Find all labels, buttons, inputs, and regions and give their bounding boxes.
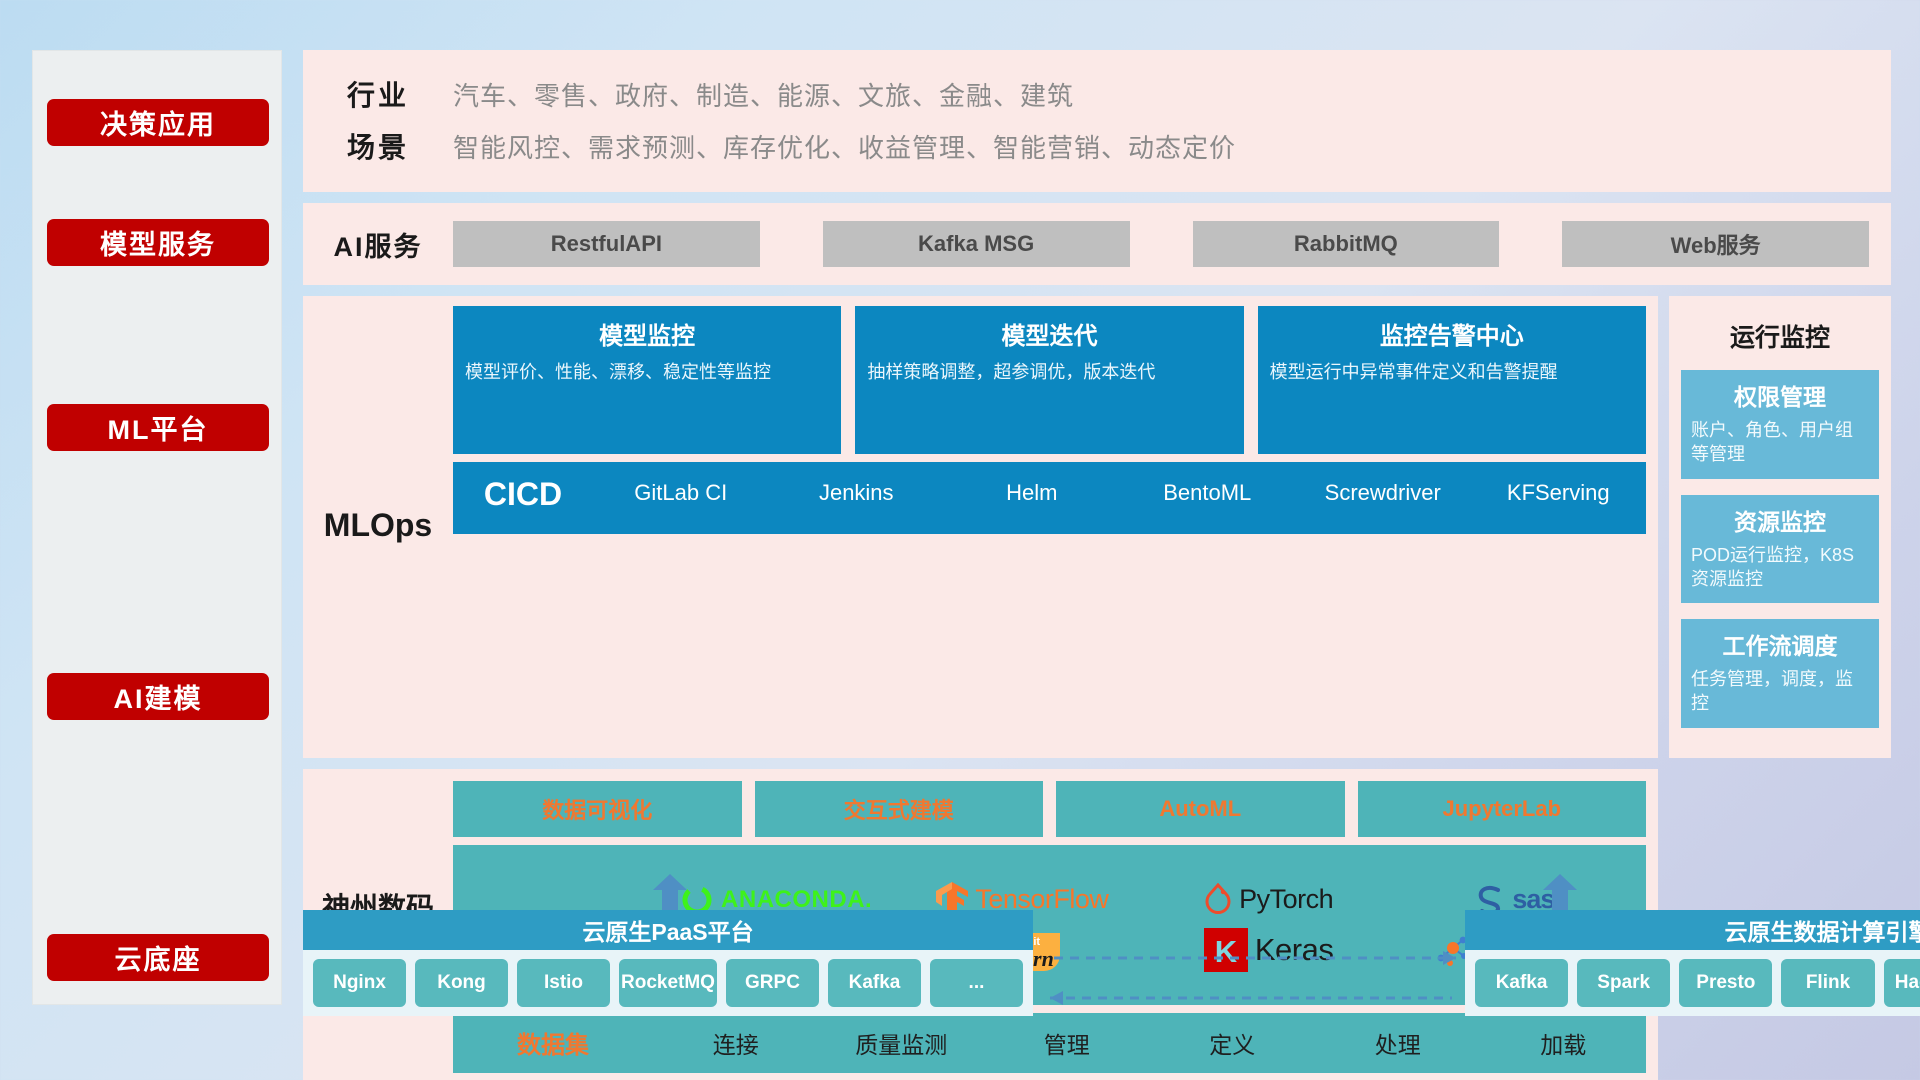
card-desc: 任务管理，调度，监控 bbox=[1691, 667, 1869, 716]
cicd-item-bentoml[interactable]: BentoML bbox=[1120, 476, 1296, 507]
row-scenario: 场景 智能风控、需求预测、库存优化、收益管理、智能营销、动态定价 bbox=[303, 120, 1891, 172]
mlops-card-model-monitoring[interactable]: 模型监控 模型评价、性能、漂移、稳定性等监控 bbox=[453, 306, 841, 454]
card-desc: 抽样策略调整，超参调优，版本迭代 bbox=[867, 360, 1231, 384]
section-decision-apps: 行业 汽车、零售、政府、制造、能源、文旅、金融、建筑 场景 智能风控、需求预测、… bbox=[303, 50, 1891, 192]
row-industry: 行业 汽车、零售、政府、制造、能源、文旅、金融、建筑 bbox=[303, 68, 1891, 120]
cicd-item-screwdriver[interactable]: Screwdriver bbox=[1295, 476, 1471, 507]
paas-chip-nginx[interactable]: Nginx bbox=[313, 959, 406, 1007]
cloud-engine-group: 云原生数据计算引擎 Kafka Spark Presto Flink Hadoo… bbox=[1465, 910, 1920, 1016]
card-title: 模型迭代 bbox=[867, 316, 1231, 351]
up-arrow-engine-icon bbox=[1543, 874, 1577, 914]
paas-chip-kong[interactable]: Kong bbox=[415, 959, 508, 1007]
rail-item-ml-platform[interactable]: ML平台 bbox=[47, 404, 269, 451]
cloud-paas-group: 云原生PaaS平台 Nginx Kong Istio RocketMQ GRPC… bbox=[303, 910, 1033, 1016]
cicd-item-gitlab-ci[interactable]: GitLab CI bbox=[593, 476, 769, 507]
paas-chip-grpc[interactable]: GRPC bbox=[726, 959, 819, 1007]
service-chip-kafka-msg[interactable]: Kafka MSG bbox=[823, 221, 1130, 267]
rail-item-model-service[interactable]: 模型服务 bbox=[47, 219, 269, 266]
scenario-value: 智能风控、需求预测、库存优化、收益管理、智能营销、动态定价 bbox=[453, 128, 1236, 165]
rail-item-decision-apps[interactable]: 决策应用 bbox=[47, 99, 269, 146]
cicd-item-helm[interactable]: Helm bbox=[944, 476, 1120, 507]
mlops-card-alert-center[interactable]: 监控告警中心 模型运行中异常事件定义和告警提醒 bbox=[1258, 306, 1646, 454]
paas-chip-rocketmq[interactable]: RocketMQ bbox=[619, 959, 717, 1007]
card-desc: 模型评价、性能、漂移、稳定性等监控 bbox=[465, 360, 829, 384]
paas-chip-istio[interactable]: Istio bbox=[517, 959, 610, 1007]
rail-item-label: 决策应用 bbox=[100, 103, 216, 142]
rail-item-label: ML平台 bbox=[108, 408, 209, 447]
mlops-key: MLOps bbox=[303, 306, 453, 746]
runtime-monitor-title: 运行监控 bbox=[1681, 318, 1879, 354]
industry-key: 行业 bbox=[303, 74, 453, 114]
section-mlops: MLOps 模型监控 模型评价、性能、漂移、稳定性等监控 模型迭代 抽样策略调整… bbox=[303, 296, 1658, 758]
card-title: 工作流调度 bbox=[1691, 627, 1869, 661]
engine-chip-presto[interactable]: Presto bbox=[1679, 959, 1772, 1007]
tool-data-visualization[interactable]: 数据可视化 bbox=[453, 781, 742, 837]
rail-item-label: 模型服务 bbox=[100, 223, 216, 262]
service-chip-web[interactable]: Web服务 bbox=[1562, 221, 1869, 267]
rail-item-label: 云底座 bbox=[115, 938, 202, 977]
service-chip-restfulapi[interactable]: RestfulAPI bbox=[453, 221, 760, 267]
card-desc: POD运行监控，K8S资源监控 bbox=[1691, 543, 1869, 592]
cicd-bar: CICD GitLab CI Jenkins Helm BentoML Scre… bbox=[453, 462, 1646, 534]
cloud-paas-title: 云原生PaaS平台 bbox=[303, 910, 1033, 950]
monitor-card-resource[interactable]: 资源监控 POD运行监控，K8S资源监控 bbox=[1681, 495, 1879, 604]
mlops-card-model-iteration[interactable]: 模型迭代 抽样策略调整，超参调优，版本迭代 bbox=[855, 306, 1243, 454]
cicd-item-kfserving[interactable]: KFServing bbox=[1471, 476, 1647, 507]
rail-item-ai-modeling[interactable]: AI建模 bbox=[47, 673, 269, 720]
card-desc: 模型运行中异常事件定义和告警提醒 bbox=[1270, 360, 1634, 384]
engine-chip-hadoop[interactable]: Hadoop bbox=[1884, 959, 1920, 1007]
service-chip-rabbitmq[interactable]: RabbitMQ bbox=[1193, 221, 1500, 267]
ai-services-key: AI服务 bbox=[303, 225, 453, 264]
card-title: 监控告警中心 bbox=[1270, 316, 1634, 351]
up-arrow-paas-icon bbox=[653, 874, 687, 914]
card-desc: 账户、角色、用户组等管理 bbox=[1691, 418, 1869, 467]
industry-value: 汽车、零售、政府、制造、能源、文旅、金融、建筑 bbox=[453, 76, 1074, 113]
row-ml-platform: MLOps 模型监控 模型评价、性能、漂移、稳定性等监控 模型迭代 抽样策略调整… bbox=[303, 296, 1891, 758]
rail-item-label: AI建模 bbox=[114, 677, 203, 716]
card-title: 资源监控 bbox=[1691, 503, 1869, 537]
paas-chip-kafka[interactable]: Kafka bbox=[828, 959, 921, 1007]
paas-chip-more[interactable]: ... bbox=[930, 959, 1023, 1007]
scenario-key: 场景 bbox=[303, 126, 453, 166]
monitor-card-permission[interactable]: 权限管理 账户、角色、用户组等管理 bbox=[1681, 370, 1879, 479]
section-ai-services: AI服务 RestfulAPI Kafka MSG RabbitMQ Web服务 bbox=[303, 203, 1891, 285]
engine-chip-flink[interactable]: Flink bbox=[1781, 959, 1874, 1007]
card-title: 模型监控 bbox=[465, 316, 829, 351]
layer-rail: 决策应用 模型服务 ML平台 AI建模 云底座 bbox=[32, 50, 282, 1005]
tool-jupyterlab[interactable]: JupyterLab bbox=[1358, 781, 1647, 837]
cloud-engine-title: 云原生数据计算引擎 bbox=[1465, 910, 1920, 950]
engine-chip-kafka[interactable]: Kafka bbox=[1475, 959, 1568, 1007]
engine-chip-spark[interactable]: Spark bbox=[1577, 959, 1670, 1007]
monitor-card-workflow[interactable]: 工作流调度 任务管理，调度，监控 bbox=[1681, 619, 1879, 728]
rail-item-cloud-base[interactable]: 云底座 bbox=[47, 934, 269, 981]
bidirectional-link bbox=[1038, 944, 1468, 1014]
card-title: 权限管理 bbox=[1691, 378, 1869, 412]
section-cloud-base: 云原生PaaS平台 Nginx Kong Istio RocketMQ GRPC… bbox=[303, 890, 1891, 1050]
cicd-label: CICD bbox=[453, 476, 593, 513]
tool-automl[interactable]: AutoML bbox=[1056, 781, 1345, 837]
cicd-item-jenkins[interactable]: Jenkins bbox=[769, 476, 945, 507]
section-runtime-monitor: 运行监控 权限管理 账户、角色、用户组等管理 资源监控 POD运行监控，K8S资… bbox=[1669, 296, 1891, 758]
tool-interactive-modeling[interactable]: 交互式建模 bbox=[755, 781, 1044, 837]
